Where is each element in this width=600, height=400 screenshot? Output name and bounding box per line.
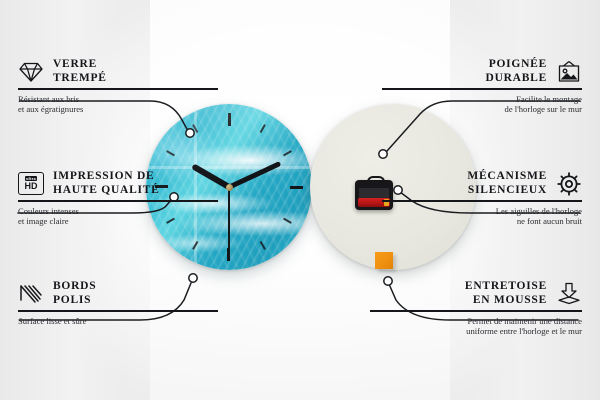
feature-title: IMPRESSION DE HAUTE QUALITÉ	[53, 170, 160, 197]
divider	[18, 88, 218, 90]
feature-description: Résistant aux bris et aux égratignures	[18, 94, 218, 115]
connector-dot-poignee	[379, 150, 387, 158]
feature-description: Couleurs intenses et image claire	[18, 206, 218, 227]
feature-entretoise-en-mousse: ENTRETOISE EN MOUSSE Permet de maintenir…	[370, 280, 582, 337]
connector-dot-verre-trempe	[186, 129, 194, 137]
gear-icon	[556, 171, 582, 197]
hd-label: HD	[25, 182, 38, 191]
divider	[18, 200, 218, 202]
feature-description: Facilite le montage de l'horloge sur le …	[382, 94, 582, 115]
feature-title: ENTRETOISE EN MOUSSE	[465, 280, 547, 307]
ultra-hd-icon: ultra HD	[18, 171, 44, 197]
foam-spacer-arrow-icon	[556, 281, 582, 307]
diamond-icon	[18, 59, 44, 85]
polished-edge-lines-icon	[18, 281, 44, 307]
wall-hanger-frame-icon	[556, 59, 582, 85]
feature-description: Les aiguilles de l'horloge ne font aucun…	[382, 206, 582, 227]
feature-description: Permet de maintenir une distance uniform…	[370, 316, 582, 337]
infographic-canvas: VERRE TREMPÉ Résistant aux bris et aux é…	[0, 0, 600, 400]
feature-bords-polis: BORDS POLIS Surface lisse et sûre	[18, 280, 218, 326]
divider	[18, 310, 218, 312]
feature-impression-haute-qualite: ultra HD IMPRESSION DE HAUTE QUALITÉ Cou…	[18, 170, 218, 227]
divider	[370, 310, 582, 312]
feature-mecanisme-silencieux: MÉCANISME SILENCIEUX Les aiguilles de l'…	[382, 170, 582, 227]
feature-title: VERRE TREMPÉ	[53, 58, 107, 85]
divider	[382, 88, 582, 90]
feature-verre-trempe: VERRE TREMPÉ Résistant aux bris et aux é…	[18, 58, 218, 115]
feature-poignee-durable: POIGNÉE DURABLE Facilite le montage de l…	[382, 58, 582, 115]
feature-description: Surface lisse et sûre	[18, 316, 218, 327]
feature-title: BORDS POLIS	[53, 280, 96, 307]
feature-title: MÉCANISME SILENCIEUX	[467, 170, 547, 197]
feature-title: POIGNÉE DURABLE	[486, 58, 547, 85]
divider	[382, 200, 582, 202]
